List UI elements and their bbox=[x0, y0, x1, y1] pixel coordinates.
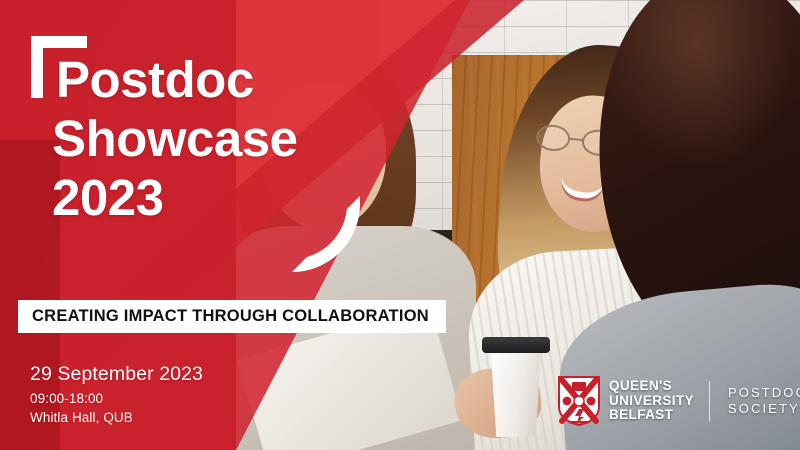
society-line-2: SOCIETY bbox=[728, 401, 800, 418]
logo-lockup: QUEEN'S UNIVERSITY BELFAST POSTDOC SOCIE… bbox=[558, 376, 800, 426]
logo-divider bbox=[709, 381, 710, 421]
lens-left bbox=[535, 123, 572, 152]
coffee-cup bbox=[487, 345, 545, 437]
society-wordmark: POSTDOC SOCIETY bbox=[728, 385, 800, 418]
subtitle-text: CREATING IMPACT THROUGH COLLABORATION bbox=[18, 307, 429, 326]
headline-line-1: Postdoc bbox=[52, 50, 297, 109]
wordmark-line-2: UNIVERSITY bbox=[609, 394, 694, 409]
coffee-cup-lid bbox=[482, 337, 550, 353]
subtitle-band: CREATING IMPACT THROUGH COLLABORATION bbox=[18, 300, 446, 333]
headline-line-3: 2023 bbox=[52, 168, 297, 227]
event-date: 29 September 2023 bbox=[30, 362, 203, 386]
wordmark-line-3: BELFAST bbox=[609, 408, 694, 423]
university-wordmark: QUEEN'S UNIVERSITY BELFAST bbox=[609, 379, 694, 423]
event-time: 09:00-18:00 bbox=[30, 389, 203, 408]
event-venue: Whitla Hall, QUB bbox=[30, 408, 203, 427]
wordmark-line-1: QUEEN'S bbox=[609, 379, 694, 394]
event-banner: Postdoc Showcase 2023 CREATING IMPACT TH… bbox=[0, 0, 800, 450]
qub-crest-shield-icon bbox=[558, 376, 600, 426]
page-title: Postdoc Showcase 2023 bbox=[52, 50, 297, 227]
headline-line-2: Showcase bbox=[52, 109, 297, 168]
event-details: 29 September 2023 09:00-18:00 Whitla Hal… bbox=[30, 362, 203, 427]
society-line-1: POSTDOC bbox=[728, 385, 800, 402]
